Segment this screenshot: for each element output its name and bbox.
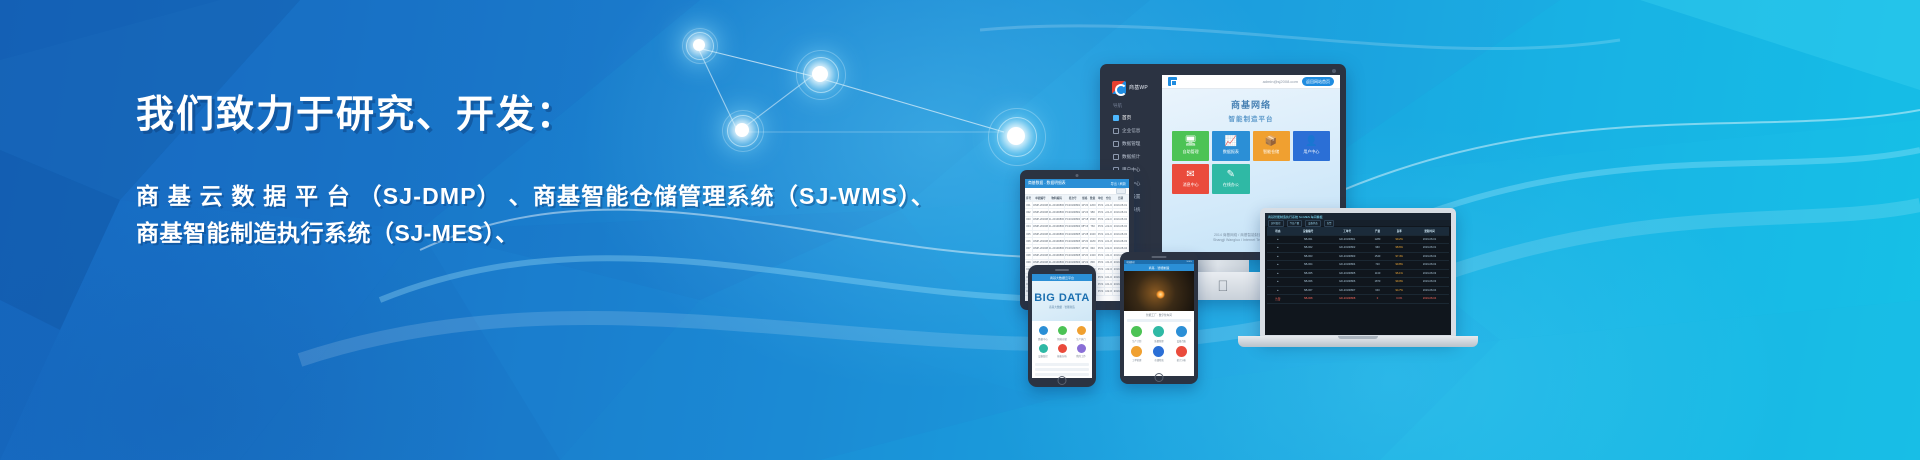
table-header-cell: 规格 [1081, 195, 1089, 201]
app-icon [1039, 344, 1048, 353]
table-cell: 2019-08-04 [1410, 289, 1449, 292]
building-icon [1113, 128, 1119, 134]
table-header-cell: 单据编号 [1033, 195, 1049, 201]
phone-left-icon-grid: 数据中心智能仓储生产执行设备监控报表分析我的工作 [1032, 321, 1092, 363]
phone-left-title: 商基大数据云平台 [1050, 276, 1074, 280]
filter-chip[interactable]: 今日产量 [1287, 220, 1303, 227]
table-cell: WL-201908005 [1049, 231, 1065, 237]
table-header-cell: 仓位 [1105, 195, 1113, 201]
table-cell: 2019-08-02 [1113, 224, 1129, 230]
table-cell: 10*20 [1081, 202, 1089, 208]
table-header-cell: 序号 [1025, 195, 1033, 201]
table-cell: C-01-01 [1105, 253, 1113, 259]
phone-left-appbar: 商基大数据云平台 [1032, 274, 1092, 281]
home-icon [1113, 115, 1119, 121]
copy-block: 我们致力于研究、开发： 商 基 云 数 据 平 台 （SJ-DMP） 、商基智能… [136, 92, 996, 253]
table-cell: PCS [1097, 267, 1105, 273]
table-cell: 0 [1367, 297, 1389, 300]
table-cell: A-02-04 [1105, 224, 1113, 230]
table-cell: 1320 [1089, 253, 1097, 259]
back-to-site-button[interactable]: 返回网站首页 [1302, 77, 1334, 86]
app-icon-label: 设备台账 [1177, 339, 1186, 343]
table-cell: SJ-DMP-20190807 [1033, 245, 1049, 251]
logo-mark-icon [1112, 81, 1126, 94]
table-cell: ● [1267, 246, 1289, 249]
table-cell: 980 [1089, 209, 1097, 215]
table-cell: GD-20190806 [1328, 280, 1367, 283]
tile-user-center[interactable]: 👤 用户中心 [1293, 131, 1330, 161]
table-row: 006SJ-DMP-20190806WL-201908006PC20190806… [1025, 238, 1129, 245]
dashboard-hero-subtitle: 智能制造平台 [1229, 113, 1274, 123]
table-row: 003SJ-DMP-20190803WL-201908003PC20190803… [1025, 217, 1129, 224]
table-cell: 99.8% [1388, 263, 1410, 266]
table-header-cell: 产量 [1367, 229, 1389, 233]
table-cell: SB-004 [1289, 263, 1328, 266]
table-header-cell: 设备编号 [1289, 229, 1328, 233]
table-cell: A-01-02 [1105, 202, 1113, 208]
device-mockup-cluster: 商基WP 导航 首页 企业信息 数据管理 数据统计 用户中心 消息中心 系统设置… [1010, 20, 1530, 460]
filter-chip[interactable]: 实时监控 [1268, 220, 1284, 227]
table-cell: PCS [1097, 209, 1105, 215]
phone-right-screen: 中国移动 100% 商基 · 智能制造 智能工厂 · 数字化车间 生产计划质量管… [1124, 260, 1194, 376]
table-cell: SJ-DMP-20190802 [1033, 209, 1049, 215]
table-cell: PCS [1097, 288, 1105, 294]
table-cell: PCS [1097, 224, 1105, 230]
brand-logo: 商基WP [1106, 75, 1162, 101]
table-row: 007SJ-DMP-20190807WL-201908007PC20190807… [1025, 245, 1129, 252]
table-cell: 640 [1367, 289, 1389, 292]
table-cell: WL-201908004 [1049, 224, 1065, 230]
table-cell: PCS [1097, 253, 1105, 259]
table-row: 005SJ-DMP-20190805WL-201908005PC20190805… [1025, 231, 1129, 238]
table-cell: 006 [1025, 238, 1033, 244]
export-button[interactable] [1116, 188, 1126, 194]
table-cell: PCS [1097, 260, 1105, 266]
table-cell: SJ-DMP-20190806 [1033, 238, 1049, 244]
bar-chart-icon: 📈 [1225, 137, 1237, 147]
tablet-camera-icon [1076, 174, 1079, 177]
table-cell: PCS [1097, 217, 1105, 223]
table-cell: PC20190803 [1065, 217, 1081, 223]
spark-icon [1156, 290, 1165, 299]
table-row: ●SB-001GD-20190801128099.2%2019-08-01 [1267, 236, 1449, 245]
table-cell: D-02-03 [1105, 288, 1113, 294]
table-cell: 2019-08-01 [1410, 238, 1449, 241]
phone-app-shortcut[interactable]: 报表分析 [1054, 344, 1070, 359]
monitor-icon: 🖥 [1184, 137, 1197, 147]
table-cell: A-02-01 [1105, 217, 1113, 223]
tile-self-service[interactable]: 🖥 自助管理 [1172, 131, 1209, 161]
pencil-icon: ✎ [1227, 170, 1235, 180]
app-icon [1131, 346, 1142, 357]
phone-app-shortcut[interactable]: 仓储物流 [1149, 346, 1168, 363]
table-cell: 720 [1367, 263, 1389, 266]
table-cell: GD-20190805 [1328, 272, 1367, 275]
tablet-actions[interactable]: 导出 / 刷新 [1111, 181, 1126, 186]
phone-right-caption: 智能工厂 · 数字化车间 [1124, 311, 1194, 319]
app-icon-label: 智能仓储 [1057, 337, 1067, 341]
table-cell: 2019-08-04 [1113, 245, 1129, 251]
app-icon-label: 我的工作 [1076, 354, 1086, 358]
table-cell: 009 [1025, 260, 1033, 266]
filter-chip[interactable]: 告警 [1324, 220, 1335, 227]
table-header-cell: 更新时间 [1410, 229, 1449, 233]
tile-warehouse[interactable]: 📦 智能仓储 [1253, 131, 1290, 161]
table-cell: PC20190805 [1065, 231, 1081, 237]
table-header-row: 状态设备编号工单号产量良率更新时间 [1267, 227, 1449, 236]
table-cell: 16*32 [1081, 245, 1089, 251]
app-icon-label: 工单管理 [1132, 358, 1141, 362]
table-cell: PC20190807 [1065, 245, 1081, 251]
table-cell: PC20190804 [1065, 224, 1081, 230]
laptop-data-table: 状态设备编号工单号产量良率更新时间●SB-001GD-2019080112809… [1265, 226, 1451, 305]
table-cell: SJ-DMP-20190801 [1033, 202, 1049, 208]
table-cell: SB-008 [1289, 297, 1328, 300]
dashboard-hero-title: 商基网络 [1231, 98, 1271, 111]
table-cell: 2019-08-03 [1113, 238, 1129, 244]
table-cell: SB-002 [1289, 246, 1328, 249]
sidebar-item-stats[interactable]: 数据统计 [1106, 151, 1162, 164]
table-cell: 760 [1089, 224, 1097, 230]
table-cell: B-01-05 [1105, 238, 1113, 244]
app-icon [1058, 344, 1067, 353]
table-header-cell: 单位 [1097, 195, 1105, 201]
tile-online-office[interactable]: ✎ 在线办公 [1212, 164, 1249, 194]
phone-app-shortcut[interactable]: 生产计划 [1127, 326, 1146, 343]
table-row: ●SB-004GD-2019080472099.8%2019-08-02 [1267, 261, 1449, 270]
network-node-1 [682, 28, 716, 62]
imac-camera-icon [1332, 69, 1336, 73]
table-cell: 2019-08-01 [1113, 202, 1129, 208]
app-icon-label: 质量管理 [1154, 339, 1163, 343]
table-cell: SB-007 [1289, 289, 1328, 292]
app-icon-label: 生产计划 [1132, 339, 1141, 343]
phone-app-shortcut[interactable]: 数据中心 [1035, 326, 1051, 341]
table-cell: C-01-03 [1105, 260, 1113, 266]
table-cell: 2019-08-04 [1410, 297, 1449, 300]
table-cell: 003 [1025, 217, 1033, 223]
app-icon [1153, 346, 1164, 357]
phone-app-shortcut[interactable]: 统计分析 [1172, 346, 1191, 363]
table-cell: SJ-DMP-20190805 [1033, 231, 1049, 237]
product-line-1: 商 基 云 数 据 平 台 （SJ-DMP） 、商基智能仓储管理系统（SJ-WM… [136, 178, 996, 216]
table-cell: 2019-08-02 [1113, 217, 1129, 223]
phone-earpiece-icon [1152, 256, 1167, 258]
sidebar-item-home[interactable]: 首页 [1106, 111, 1162, 124]
table-cell: SB-005 [1289, 272, 1328, 275]
table-cell: D-01-04 [1105, 281, 1113, 287]
table-cell: 004 [1025, 224, 1033, 230]
table-cell: 98.6% [1388, 246, 1410, 249]
phone-right-mockup: 中国移动 100% 商基 · 智能制造 智能工厂 · 数字化车间 生产计划质量管… [1120, 252, 1198, 384]
table-cell: 94.7% [1388, 289, 1410, 292]
table-cell: GD-20190802 [1328, 246, 1367, 249]
table-cell: PCS [1097, 202, 1105, 208]
tile-messages[interactable]: ✉ 消息中心 [1172, 164, 1209, 194]
app-icon-label: 统计分析 [1177, 358, 1186, 362]
page-title: 我们致力于研究、开发： [136, 92, 996, 140]
network-node-2 [796, 50, 844, 98]
table-cell: 2040 [1089, 231, 1097, 237]
dashboard-topbar: admin@sj2008.com 返回网站首页 [1162, 75, 1340, 89]
table-cell: 2019-08-01 [1410, 246, 1449, 249]
laptop-screen: 商基智能制造执行系统 SJ-MES 车间看板 实时监控今日产量设备状态告警 状态… [1265, 213, 1451, 335]
tablet-app-header: 商基数据 - 数据明细表 导出 / 刷新 [1025, 179, 1129, 188]
phone-left-mockup: 商基大数据云平台 BIG DATA 商基大数据 · 智能制造 数据中心智能仓储生… [1028, 265, 1096, 387]
table-cell: B-02-02 [1105, 245, 1113, 251]
table-cell: PCS [1097, 231, 1105, 237]
table-row: 告警SB-008GD-2019080800.0%2019-08-04 [1267, 295, 1449, 304]
table-cell: PC20190801 [1065, 202, 1081, 208]
logo-text: 商基WP [1129, 84, 1148, 91]
table-header-cell: 数量 [1089, 195, 1097, 201]
table-cell: C-02-02 [1105, 267, 1113, 273]
app-icon [1168, 77, 1177, 86]
phone-app-shortcut[interactable]: 智能仓储 [1054, 326, 1070, 341]
app-icon-label: 仓储物流 [1154, 358, 1163, 362]
laptop-base [1238, 336, 1478, 347]
table-cell: 960 [1367, 246, 1389, 249]
table-cell: GD-20190807 [1328, 289, 1367, 292]
app-icon [1131, 326, 1142, 337]
phone-right-appbar: 商基 · 智能制造 [1124, 264, 1194, 271]
table-cell: 001 [1025, 202, 1033, 208]
table-cell: 1280 [1367, 238, 1389, 241]
table-cell: 1870 [1367, 280, 1389, 283]
person-icon: 👤 [1305, 137, 1317, 147]
table-cell: PCS [1097, 238, 1105, 244]
sidebar-item-company[interactable]: 企业信息 [1106, 124, 1162, 137]
table-cell: WL-201908001 [1049, 202, 1065, 208]
database-icon [1113, 141, 1119, 147]
table-cell: 0.0% [1388, 297, 1410, 300]
table-cell: 005 [1025, 231, 1033, 237]
table-cell: GD-20190808 [1328, 297, 1367, 300]
table-cell: 2019-08-03 [1410, 280, 1449, 283]
table-cell: WL-201908007 [1049, 245, 1065, 251]
table-cell: PC20190802 [1065, 209, 1081, 215]
phone-right-hero-image [1124, 271, 1194, 311]
table-cell: 10*18 [1081, 217, 1089, 223]
table-header-cell: 日期 [1113, 195, 1129, 201]
table-cell: 97.4% [1388, 255, 1410, 258]
table-cell: WL-201908006 [1049, 238, 1065, 244]
table-cell: WL-201908003 [1049, 217, 1065, 223]
table-cell: 10*20 [1081, 253, 1089, 259]
table-cell: SJ-DMP-20190804 [1033, 224, 1049, 230]
table-cell: B-01-01 [1105, 231, 1113, 237]
table-cell: 08*16 [1081, 224, 1089, 230]
app-icon [1039, 326, 1048, 335]
app-icon [1077, 344, 1086, 353]
account-label: admin@sj2008.com [1263, 79, 1298, 84]
table-cell: SB-003 [1289, 255, 1328, 258]
table-cell: SJ-DMP-20190803 [1033, 217, 1049, 223]
phone-app-shortcut[interactable]: 工单管理 [1127, 346, 1146, 363]
table-header-cell: 状态 [1267, 229, 1289, 233]
sidebar-section-label: 导航 [1106, 101, 1162, 111]
box-icon: 📦 [1265, 137, 1277, 147]
table-cell: SJ-DMP-20190808 [1033, 253, 1049, 259]
tablet-title: 商基数据 - 数据明细表 [1028, 181, 1066, 186]
apple-logo-icon:  [1217, 279, 1228, 294]
table-row: ●SB-006GD-20190806187099.0%2019-08-03 [1267, 278, 1449, 287]
phone-home-button-icon[interactable] [1058, 376, 1067, 385]
app-icon [1058, 326, 1067, 335]
table-cell: GD-20190804 [1328, 263, 1367, 266]
table-cell: 2019-08-03 [1113, 231, 1129, 237]
table-header-cell: 良率 [1388, 229, 1410, 233]
table-cell: 1540 [1367, 255, 1389, 258]
table-cell: PCS [1097, 274, 1105, 280]
table-cell: D-01-01 [1105, 274, 1113, 280]
phone-app-shortcut[interactable]: 我的工作 [1073, 344, 1089, 359]
phone-app-shortcut[interactable]: 质量管理 [1149, 326, 1168, 343]
table-header-cell: 物料编码 [1049, 195, 1065, 201]
table-cell: ● [1267, 263, 1289, 266]
table-row: ●SB-007GD-2019080764094.7%2019-08-04 [1267, 287, 1449, 296]
product-line-2: 商基智能制造执行系统（SJ-MES）、 [136, 215, 996, 253]
table-cell: 007 [1025, 245, 1033, 251]
table-cell: ● [1267, 272, 1289, 275]
table-cell: SB-006 [1289, 280, 1328, 283]
table-row: ●SB-005GD-20190805113096.1%2019-08-03 [1267, 270, 1449, 279]
app-icon [1153, 326, 1164, 337]
phone-app-shortcut[interactable]: 设备监控 [1035, 344, 1051, 359]
table-cell: 1200 [1089, 202, 1097, 208]
table-row: 008SJ-DMP-20190808WL-201908008PC20190808… [1025, 253, 1129, 260]
table-cell: GD-20190801 [1328, 238, 1367, 241]
app-icon-label: 设备监控 [1038, 354, 1048, 358]
laptop-title: 商基智能制造执行系统 SJ-MES 车间看板 [1268, 215, 1323, 219]
table-row: 002SJ-DMP-20190802WL-201908002PC20190802… [1025, 209, 1129, 216]
phone-app-shortcut[interactable]: 设备台账 [1172, 326, 1191, 343]
app-icon-label: 数据中心 [1038, 337, 1048, 341]
table-header-cell: 工单号 [1328, 229, 1367, 233]
table-cell: 2019-08-02 [1410, 255, 1449, 258]
table-cell: 1130 [1367, 272, 1389, 275]
phone-right-icon-grid: 生产计划质量管理设备台账工单管理仓储物流统计分析 [1124, 326, 1194, 362]
table-cell: WL-201908008 [1049, 253, 1065, 259]
table-cell: GD-20190803 [1328, 255, 1367, 258]
table-cell: 2019-08-03 [1410, 272, 1449, 275]
table-cell: PCS [1097, 245, 1105, 251]
table-cell: PCS [1097, 281, 1105, 287]
table-cell: 10*20 [1081, 238, 1089, 244]
carrier-label: 中国移动 [1126, 260, 1135, 264]
laptop-titlebar: 商基智能制造执行系统 SJ-MES 车间看板 [1265, 213, 1451, 220]
table-header-row: 序号单据编号物料编码批次号规格数量单位仓位日期 [1025, 195, 1129, 202]
phone-home-button-icon[interactable] [1155, 373, 1164, 382]
table-row: 001SJ-DMP-20190801WL-201908001PC20190801… [1025, 202, 1129, 209]
phone-earpiece-icon [1055, 269, 1069, 271]
table-cell: ● [1267, 280, 1289, 283]
table-cell: PC20190808 [1065, 253, 1081, 259]
table-cell: 1530 [1089, 217, 1097, 223]
app-icon [1176, 326, 1187, 337]
tile-reports[interactable]: 📈 数据报表 [1212, 131, 1249, 161]
table-row: ●SB-003GD-20190803154097.4%2019-08-02 [1267, 253, 1449, 262]
table-cell: ● [1267, 289, 1289, 292]
table-row: ●SB-002GD-2019080296098.6%2019-08-01 [1267, 244, 1449, 253]
table-cell: 告警 [1267, 297, 1289, 301]
table-header-cell: 批次号 [1065, 195, 1081, 201]
battery-label: 100% [1186, 261, 1192, 263]
phone-left-banner-sub: 商基大数据 · 智能制造 [1049, 305, 1075, 309]
product-list: 商 基 云 数 据 平 台 （SJ-DMP） 、商基智能仓储管理系统（SJ-WM… [136, 178, 996, 254]
hero-banner: 我们致力于研究、开发： 商 基 云 数 据 平 台 （SJ-DMP） 、商基智能… [0, 0, 1920, 460]
app-icon [1077, 326, 1086, 335]
table-cell: 2019-08-02 [1410, 263, 1449, 266]
table-cell: PC20190806 [1065, 238, 1081, 244]
app-icon-label: 报表分析 [1057, 354, 1067, 358]
table-cell: ● [1267, 255, 1289, 258]
table-row: 004SJ-DMP-20190804WL-201908004PC20190804… [1025, 224, 1129, 231]
laptop-mockup: 商基智能制造执行系统 SJ-MES 车间看板 实时监控今日产量设备状态告警 状态… [1260, 208, 1456, 340]
table-cell: 14*28 [1081, 231, 1089, 237]
table-cell: 99.0% [1388, 280, 1410, 283]
dashboard-tiles: 🖥 自助管理 📈 数据报表 📦 智能仓储 [1172, 131, 1330, 194]
phone-right-title: 商基 · 智能制造 [1149, 266, 1170, 270]
table-cell: 002 [1025, 209, 1033, 215]
table-cell: 96.1% [1388, 272, 1410, 275]
tablet-toolbar [1025, 188, 1129, 195]
table-cell: 99.2% [1388, 238, 1410, 241]
table-cell: 1180 [1089, 238, 1097, 244]
chart-icon [1113, 154, 1119, 160]
table-cell: WL-201908002 [1049, 209, 1065, 215]
table-cell: 2019-08-01 [1113, 209, 1129, 215]
table-cell: ● [1267, 238, 1289, 241]
table-cell: 008 [1025, 253, 1033, 259]
table-cell: 12*24 [1081, 209, 1089, 215]
phone-left-banner-title: BIG DATA [1034, 293, 1090, 303]
table-cell: SB-001 [1289, 238, 1328, 241]
app-icon [1176, 346, 1187, 357]
sidebar-item-data[interactable]: 数据管理 [1106, 137, 1162, 150]
app-icon-label: 生产执行 [1076, 337, 1086, 341]
filter-chip[interactable]: 设备状态 [1305, 220, 1321, 227]
envelope-icon: ✉ [1186, 170, 1194, 180]
phone-left-banner: BIG DATA 商基大数据 · 智能制造 [1032, 281, 1092, 321]
table-cell: 640 [1089, 245, 1097, 251]
table-cell: A-01-03 [1105, 209, 1113, 215]
phone-app-shortcut[interactable]: 生产执行 [1073, 326, 1089, 341]
phone-left-screen: 商基大数据云平台 BIG DATA 商基大数据 · 智能制造 数据中心智能仓储生… [1032, 274, 1092, 378]
